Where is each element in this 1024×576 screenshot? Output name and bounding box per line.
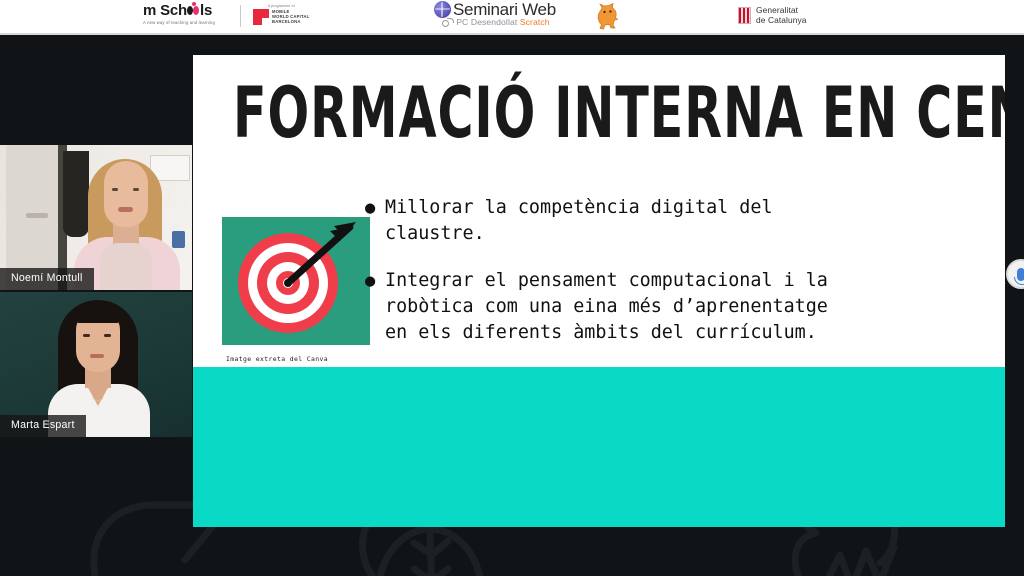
avatar-necklace xyxy=(92,388,104,401)
slide-bullet-list: ● Millorar la competència digital del cl… xyxy=(365,195,985,367)
generalitat-line2: de Catalunya xyxy=(756,16,807,26)
participant-tile[interactable]: Marta Espart xyxy=(0,292,192,437)
scratch-cat-icon xyxy=(594,3,620,31)
mschools-word-part2: ls xyxy=(200,3,212,18)
seminari-web-title: Seminari Web xyxy=(453,1,556,18)
logo-seminari-web: Seminari Web PC Desendollat Scratch xyxy=(434,1,556,27)
logo-mobile-world-capital: A programme of MOBILE WORLD CAPITAL BARC… xyxy=(253,4,309,25)
logo-generalitat-de-catalunya: Generalitat de Catalunya xyxy=(738,6,807,25)
bullet-marker-icon: ● xyxy=(365,195,385,247)
slide-accent-band xyxy=(193,367,1005,527)
mwc-programme-of-label: A programme of xyxy=(268,4,295,8)
list-item: ● Integrar el pensament computacional i … xyxy=(365,268,985,346)
banner-divider xyxy=(240,5,241,27)
bullet-marker-icon: ● xyxy=(365,268,385,346)
avatar-shirt xyxy=(100,243,152,290)
seminari-subtitle-accent: Scratch xyxy=(520,17,550,27)
brain-icon xyxy=(434,1,451,18)
bullet-text: Millorar la competència digital del clau… xyxy=(385,195,985,247)
mschools-tagline: A new way of teaching and learning xyxy=(143,20,215,26)
avatar-mouth xyxy=(118,207,133,212)
mic-glyph xyxy=(1017,268,1024,281)
target-with-arrow-image xyxy=(222,217,370,345)
scene-coat xyxy=(63,151,89,237)
mschools-word-part1: m Sch xyxy=(143,3,187,18)
mwc-line3: BARCELONA xyxy=(272,19,309,24)
avatar-eye-right xyxy=(133,188,139,191)
avatar-fringe xyxy=(74,304,122,323)
banner-bottom-rule xyxy=(0,33,1024,35)
target-arrow-icon xyxy=(222,217,370,345)
seminari-web-subtitle: PC Desendollat Scratch xyxy=(456,17,549,27)
sponsor-banner: m Sch ls A new way of teaching and learn… xyxy=(0,0,1024,33)
scene-cup xyxy=(172,231,185,248)
slide-title: FORMACIÓ INTERNA EN CENTRE xyxy=(233,77,929,148)
list-item: ● Millorar la competència digital del cl… xyxy=(365,195,985,247)
unplugged-plug-icon xyxy=(442,18,453,26)
mschools-wordmark: m Sch ls xyxy=(143,3,212,18)
catalan-flag-icon xyxy=(738,7,751,24)
avatar-face xyxy=(104,161,148,227)
slide-image-caption: Imatge extreta del Canva xyxy=(226,355,328,363)
mwc-square-icon xyxy=(253,9,269,25)
scene-door-handle xyxy=(26,213,48,218)
mschools-oo-icon xyxy=(187,4,200,17)
participant-name-label: Noemí Montull xyxy=(0,268,94,290)
shared-slide: FORMACIÓ INTERNA EN CENTRE Imatge extret… xyxy=(193,55,1005,527)
avatar-eye-left xyxy=(83,334,90,337)
seminari-subtitle-plain: PC Desendollat xyxy=(456,17,520,27)
logo-mschools: m Sch ls A new way of teaching and learn… xyxy=(143,3,215,26)
avatar-mouth xyxy=(90,354,104,358)
participant-tile[interactable]: Noemí Montull xyxy=(0,145,192,290)
bullet-text: Integrar el pensament computacional i la… xyxy=(385,268,985,346)
meeting-stage: FORMACIÓ INTERNA EN CENTRE Imatge extret… xyxy=(0,35,1024,576)
avatar-eye-left xyxy=(112,188,118,191)
participant-name-label: Marta Espart xyxy=(0,415,86,437)
avatar-eye-right xyxy=(104,334,111,337)
